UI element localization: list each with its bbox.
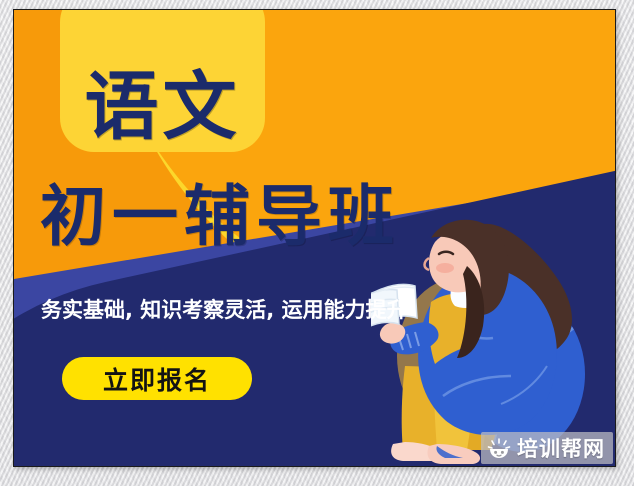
promotional-banner: 语文 初一辅导班 务实基础, 知识考察灵活, 运用能力提升 立即报名 xyxy=(13,9,616,467)
subtitle-text: 务实基础, 知识考察灵活, 运用能力提升 xyxy=(41,298,408,323)
page-background: 语文 初一辅导班 务实基础, 知识考察灵活, 运用能力提升 立即报名 xyxy=(0,0,634,486)
page-title: 初一辅导班 xyxy=(40,184,400,250)
subject-badge: 语文 xyxy=(60,9,265,152)
watermark-label: 培训帮网 xyxy=(517,433,605,463)
sunburst-face-icon xyxy=(487,437,511,459)
enroll-now-button[interactable]: 立即报名 xyxy=(62,357,252,400)
watermark: 培训帮网 xyxy=(481,432,613,464)
woman-reading-illustration xyxy=(371,206,616,467)
subject-badge-label: 语文 xyxy=(85,70,241,144)
enroll-now-button-label: 立即报名 xyxy=(103,361,211,397)
